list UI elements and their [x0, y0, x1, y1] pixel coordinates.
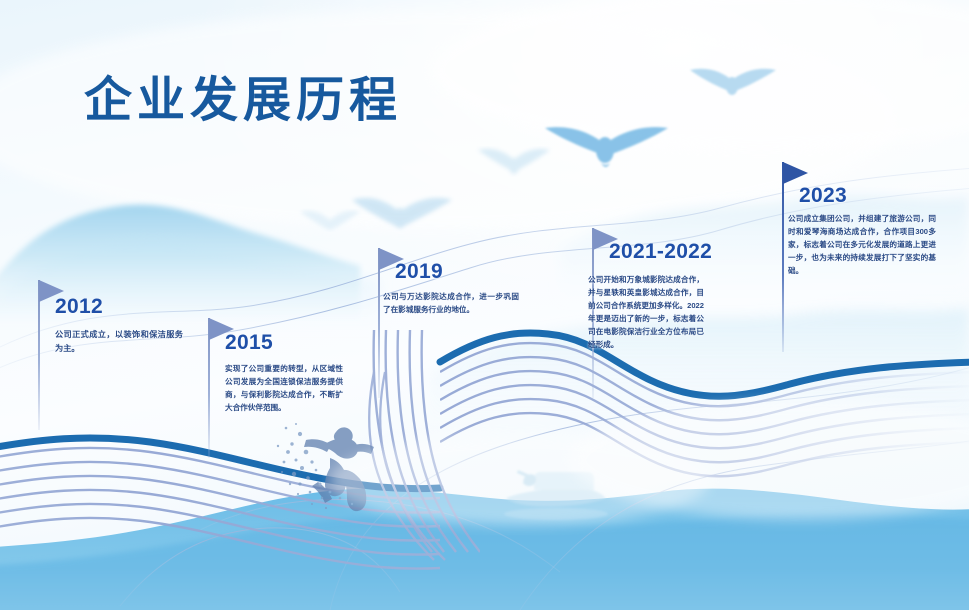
milestone-year: 2012 — [55, 295, 103, 319]
milestone-year: 2015 — [225, 331, 273, 355]
milestone-description: 公司与万达影院达成合作，进一步巩固了在影城服务行业的地位。 — [383, 290, 519, 316]
milestone-year: 2023 — [799, 184, 847, 208]
poster-canvas: 企业发展历程 2012 公司正式成立，以装饰和保洁服务为主。 2015 实现了公… — [0, 0, 969, 610]
milestone-year: 2021-2022 — [609, 240, 712, 264]
milestone-description: 实现了公司重要的转型，从区域性公司发展为全国连锁保洁服务提供商，与保利影院达成合… — [225, 362, 343, 414]
flag-icon — [783, 162, 808, 184]
page-title: 企业发展历程 — [84, 60, 402, 130]
flag-pole — [378, 248, 380, 398]
milestone-description: 公司成立集团公司，并组建了旅游公司，同时和爱琴海商场达成合作，合作项目300多家… — [788, 212, 936, 277]
milestone-description: 公司开始和万象城影院达成合作，并与星轶和英皇影城达成合作，目前公司合作系统更加多… — [588, 273, 704, 351]
milestone-description: 公司正式成立，以装饰和保洁服务为主。 — [55, 328, 183, 357]
flag-pole — [782, 162, 784, 352]
milestone-year: 2019 — [395, 260, 443, 284]
flag-pole — [38, 280, 40, 430]
